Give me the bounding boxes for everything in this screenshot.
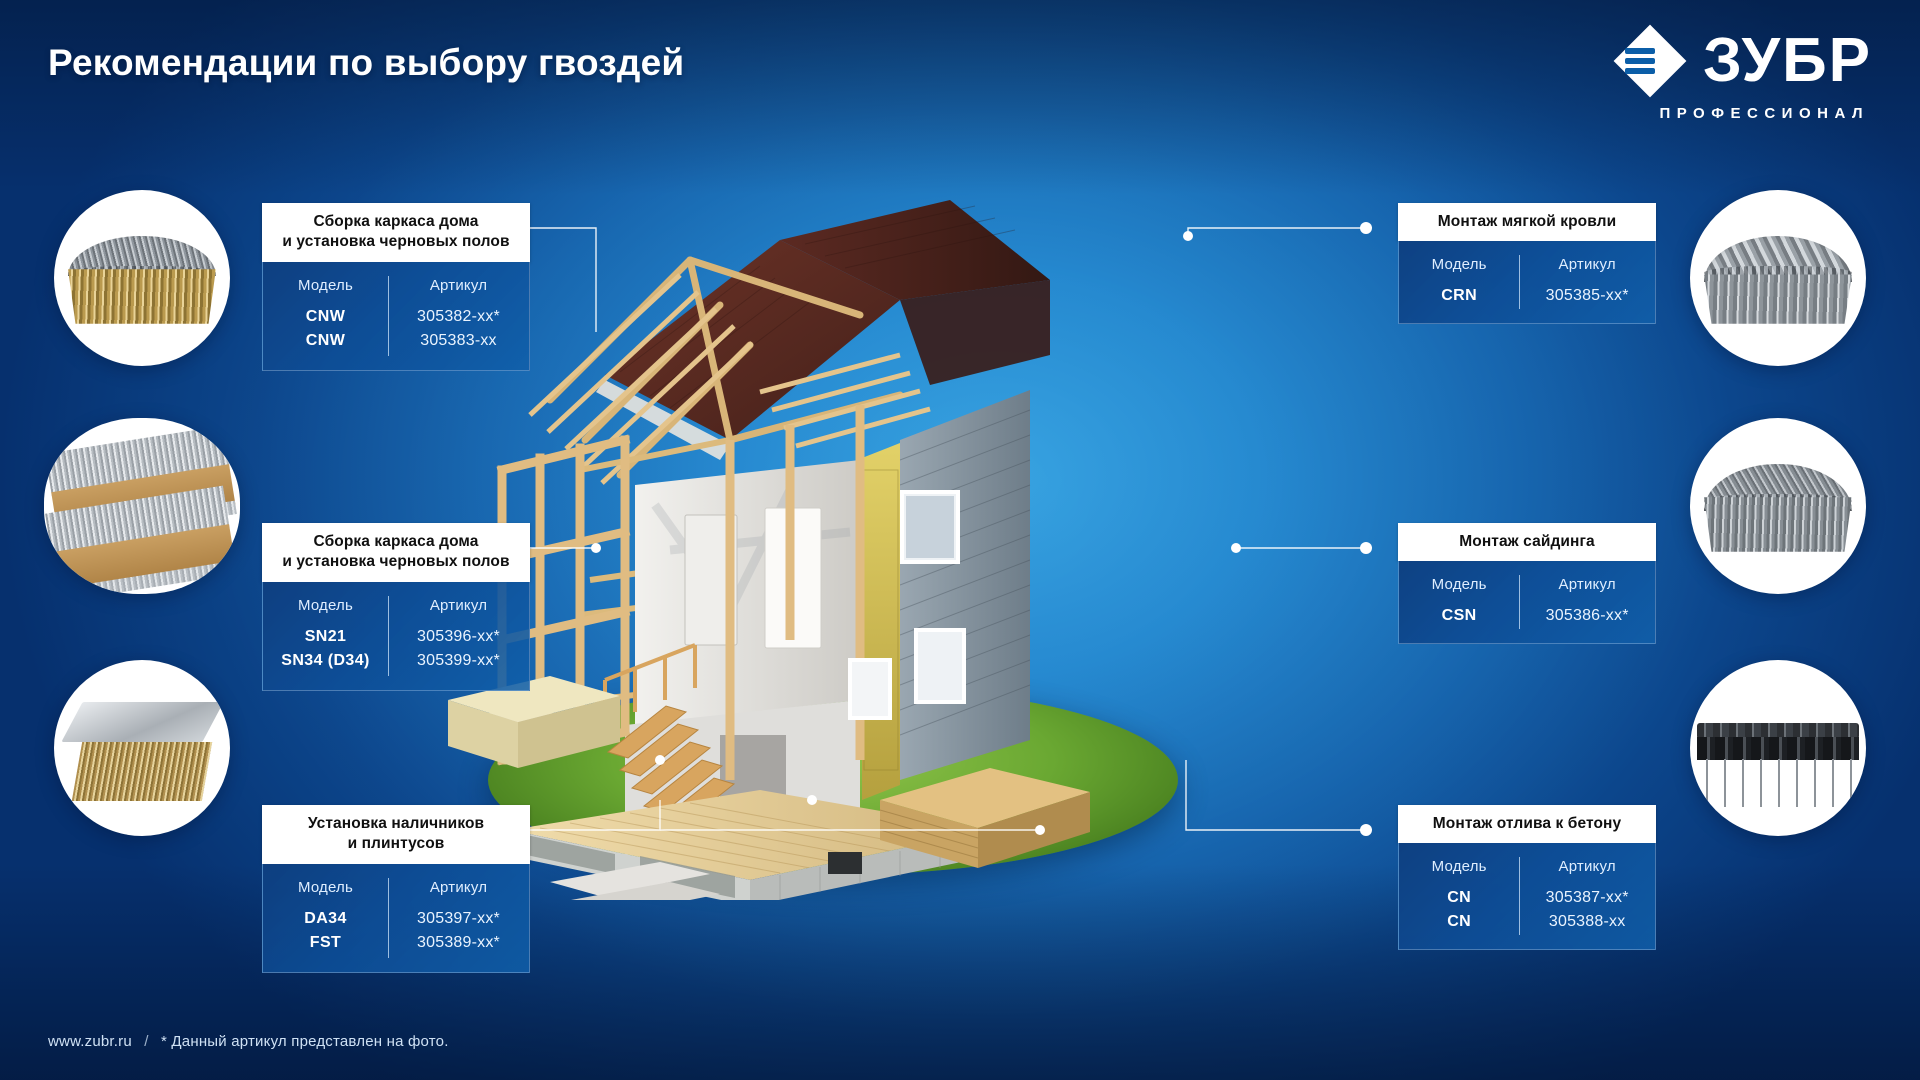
model-header: Модель	[263, 595, 388, 625]
table-row: CN 305387-xx*	[1399, 886, 1655, 910]
card-title: Монтаж мягкой кровли	[1398, 203, 1656, 241]
spec-table: Модель Артикул DA34 305397-xx* FST 30538…	[263, 877, 529, 955]
table-row: CRN 305385-xx*	[1399, 284, 1655, 308]
table-row: DA34 305397-xx*	[263, 907, 529, 931]
model-value: CNW	[263, 305, 388, 329]
coil-siding-nails-icon	[1690, 418, 1866, 594]
model-value: CRN	[1399, 284, 1519, 308]
card-body: Модель Артикул CSN 305386-xx*	[1398, 561, 1656, 644]
model-value: CNW	[263, 329, 388, 353]
column-divider	[388, 276, 389, 356]
card-soft-roof-installation[interactable]: Монтаж мягкой кровли Модель Артикул CRN …	[1398, 203, 1656, 324]
window-side	[850, 660, 890, 718]
logo-wordmark: ЗУБР	[1703, 32, 1872, 91]
card-drip-edge-to-concrete[interactable]: Монтаж отлива к бетону Модель Артикул CN…	[1398, 805, 1656, 950]
strip-nails-paper-collated-icon	[44, 418, 240, 594]
model-value: SN21	[263, 625, 388, 649]
coil-nails-framing-icon	[54, 190, 230, 366]
interior-wall-upper	[635, 460, 860, 725]
model-header: Модель	[1399, 574, 1519, 604]
foundation-vent	[828, 852, 862, 874]
article-value: 305396-xx*	[388, 625, 529, 649]
article-header: Артикул	[1519, 574, 1655, 604]
article-value: 305387-xx*	[1519, 886, 1655, 910]
footer-site[interactable]: www.zubr.ru	[48, 1033, 132, 1050]
logo-tagline: ПРОФЕССИОНАЛ	[1613, 105, 1869, 122]
footer: www.zubr.ru / * Данный артикул представл…	[48, 1033, 449, 1050]
model-value: SN34 (D34)	[263, 649, 388, 673]
table-row: CN 305388-xx	[1399, 910, 1655, 934]
spec-table: Модель Артикул CN 305387-xx* CN 305388-x…	[1399, 856, 1655, 934]
table-row: CNW 305383-xx	[263, 329, 529, 353]
model-value: CN	[1399, 910, 1519, 934]
card-trim-and-baseboards[interactable]: Установка наличников и плинтусов Модель …	[262, 805, 530, 973]
footer-note: * Данный артикул представлен на фото.	[161, 1033, 449, 1050]
article-value: 305382-xx*	[388, 305, 529, 329]
zubr-diamond-arrow-icon	[1613, 24, 1687, 98]
card-title-line1: Монтаж отлива к бетону	[1406, 814, 1648, 834]
card-title-line1: Установка наличников	[270, 814, 522, 834]
card-title: Сборка каркаса дома и установка черновых…	[262, 203, 530, 262]
infographic-canvas: Рекомендации по выбору гвоздей ЗУБР ПРО	[0, 0, 1920, 1080]
card-title-line1: Монтаж сайдинга	[1406, 532, 1648, 552]
model-value: DA34	[263, 907, 388, 931]
article-value: 305383-xx	[388, 329, 529, 353]
card-title-line1: Монтаж мягкой кровли	[1406, 212, 1648, 232]
card-title-line2: и плинтусов	[270, 834, 522, 854]
article-value: 305385-xx*	[1519, 284, 1655, 308]
table-row: SN21 305396-xx*	[263, 625, 529, 649]
spec-table: Модель Артикул CNW 305382-xx* CNW 305383…	[263, 275, 529, 353]
page-title: Рекомендации по выбору гвоздей	[48, 42, 684, 84]
article-header: Артикул	[1519, 254, 1655, 284]
article-header: Артикул	[388, 595, 529, 625]
concrete-pins-icon	[1690, 660, 1866, 836]
model-value: CN	[1399, 886, 1519, 910]
brad-nails-icon	[54, 660, 230, 836]
article-header: Артикул	[388, 877, 529, 907]
model-value: FST	[263, 931, 388, 955]
card-frame-assembly-cnw[interactable]: Сборка каркаса дома и установка черновых…	[262, 203, 530, 371]
article-value: 305397-xx*	[388, 907, 529, 931]
card-title: Монтаж сайдинга	[1398, 523, 1656, 561]
column-divider	[388, 596, 389, 676]
column-divider	[1519, 575, 1520, 629]
model-header: Модель	[1399, 254, 1519, 284]
footer-separator: /	[144, 1033, 148, 1050]
model-header: Модель	[1399, 856, 1519, 886]
article-header: Артикул	[388, 275, 529, 305]
card-siding-installation[interactable]: Монтаж сайдинга Модель Артикул CSN 30538…	[1398, 523, 1656, 644]
card-title: Монтаж отлива к бетону	[1398, 805, 1656, 843]
card-title: Сборка каркаса дома и установка черновых…	[262, 523, 530, 582]
card-title-line2: и установка черновых полов	[270, 232, 522, 252]
spec-table: Модель Артикул CRN 305385-xx*	[1399, 254, 1655, 308]
card-frame-assembly-sn[interactable]: Сборка каркаса дома и установка черновых…	[262, 523, 530, 691]
card-title-line2: и установка черновых полов	[270, 552, 522, 572]
spec-table: Модель Артикул SN21 305396-xx* SN34 (D34…	[263, 595, 529, 673]
card-body: Модель Артикул CN 305387-xx* CN 305388-x…	[1398, 843, 1656, 950]
model-header: Модель	[263, 275, 388, 305]
column-divider	[1519, 255, 1520, 309]
card-body: Модель Артикул DA34 305397-xx* FST 30538…	[262, 864, 530, 973]
table-row: FST 305389-xx*	[263, 931, 529, 955]
window-lower	[916, 630, 964, 702]
card-title-line1: Сборка каркаса дома	[270, 212, 522, 232]
column-divider	[388, 878, 389, 958]
card-body: Модель Артикул CNW 305382-xx* CNW 305383…	[262, 262, 530, 371]
model-header: Модель	[263, 877, 388, 907]
article-value: 305388-xx	[1519, 910, 1655, 934]
table-row: CSN 305386-xx*	[1399, 604, 1655, 628]
column-divider	[1519, 857, 1520, 935]
coil-roofing-nails-icon	[1690, 190, 1866, 366]
card-title-line1: Сборка каркаса дома	[270, 532, 522, 552]
table-row: CNW 305382-xx*	[263, 305, 529, 329]
card-title: Установка наличников и плинтусов	[262, 805, 530, 864]
spec-table: Модель Артикул CSN 305386-xx*	[1399, 574, 1655, 628]
article-value: 305389-xx*	[388, 931, 529, 955]
table-row: SN34 (D34) 305399-xx*	[263, 649, 529, 673]
article-value: 305399-xx*	[388, 649, 529, 673]
house-illustration	[430, 140, 1190, 900]
card-body: Модель Артикул SN21 305396-xx* SN34 (D34…	[262, 582, 530, 691]
article-header: Артикул	[1519, 856, 1655, 886]
article-value: 305386-xx*	[1519, 604, 1655, 628]
insulation-layer	[862, 443, 900, 800]
card-body: Модель Артикул CRN 305385-xx*	[1398, 241, 1656, 324]
model-value: CSN	[1399, 604, 1519, 628]
brand-logo: ЗУБР ПРОФЕССИОНАЛ	[1613, 24, 1872, 122]
